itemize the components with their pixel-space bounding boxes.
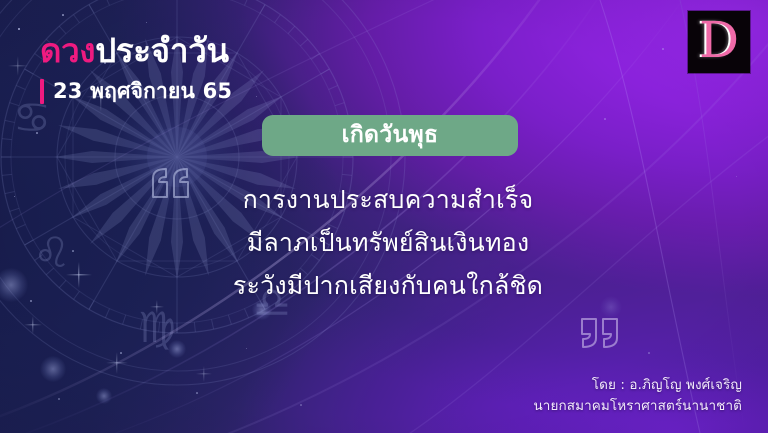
- credit-author: โดย : อ.ภิญโญ พงศ์เจริญ: [533, 375, 742, 396]
- date-line: 23 พฤศจิกายน 65: [40, 75, 232, 108]
- horoscope-line: การงานประสบความสำเร็จ: [243, 186, 534, 214]
- page-title-rest: ประจำวัน: [95, 31, 229, 70]
- horoscope-text-block: การงานประสบความสำเร็จ มีลาภเป็นทรัพย์สิน…: [200, 186, 576, 300]
- quote-close-icon: [578, 316, 620, 350]
- horoscope-line: ระวังมีปากเสียงกับคนใกล้ชิด: [233, 272, 543, 300]
- page-title: ดวงประจำวัน: [40, 34, 232, 69]
- header-block: ดวงประจำวัน 23 พฤศจิกายน 65: [40, 34, 232, 108]
- quote-open-icon: [150, 166, 192, 200]
- date-accent-bar: [40, 79, 44, 104]
- page-title-highlight: ดวง: [40, 31, 95, 70]
- credit-block: โดย : อ.ภิญโญ พงศ์เจริญ นายกสมาคมโหราศาส…: [533, 375, 742, 417]
- day-badge-label: เกิดวันพุธ: [342, 117, 439, 153]
- day-badge: เกิดวันพุธ: [262, 115, 518, 156]
- brand-logo-letter: D: [699, 15, 739, 65]
- horoscope-card: ♋ ♌ ♍ ♎: [0, 0, 768, 433]
- brand-logo[interactable]: D: [688, 11, 750, 73]
- date-text: 23 พฤศจิกายน 65: [53, 75, 232, 108]
- credit-affiliation: นายกสมาคมโหราศาสตร์นานาชาติ: [533, 396, 742, 417]
- horoscope-line: มีลาภเป็นทรัพย์สินเงินทอง: [247, 229, 530, 257]
